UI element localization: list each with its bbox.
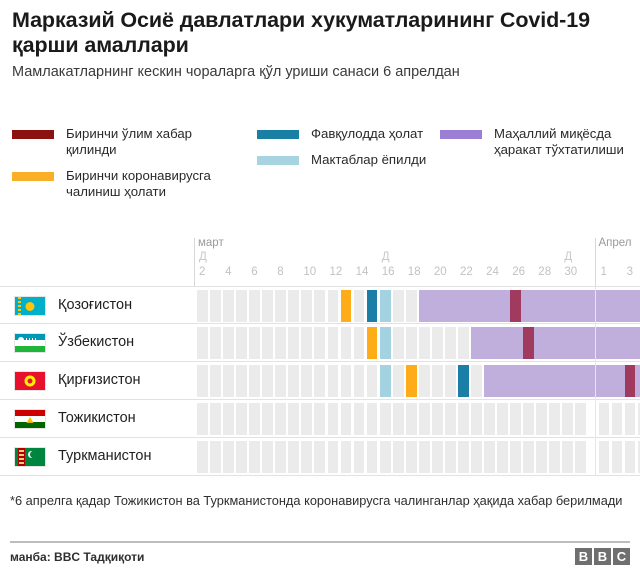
day-cell	[354, 290, 365, 322]
country-label-1: Қозоғистон	[58, 297, 132, 314]
day-cell	[301, 290, 312, 322]
legend-label-local-lockdown: Маҳаллий миқёсда ҳаракат тўхтатилиши	[494, 126, 640, 158]
event-bar-schools_closed	[380, 327, 391, 359]
day-cell	[288, 327, 299, 359]
day-cell	[599, 441, 610, 473]
day-cell	[275, 441, 286, 473]
infographic-page: Марказий Осиё давлатлари хукуматларининг…	[0, 0, 640, 571]
day-cell	[432, 327, 443, 359]
legend-column-2: Фавқулодда ҳолатМактаблар ёпилди	[257, 126, 437, 178]
day-cell	[301, 403, 312, 435]
bbc-letter-2: B	[594, 548, 611, 565]
day-cell	[249, 327, 260, 359]
day-cell	[380, 441, 391, 473]
day-cell	[354, 403, 365, 435]
row-month-divider	[595, 287, 596, 325]
day-cell	[612, 403, 623, 435]
page-subtitle: Мамлакатларнинг кескин чораларга қўл ури…	[12, 63, 628, 82]
day-cell	[341, 441, 352, 473]
day-cell	[236, 441, 247, 473]
day-tick-march-20: 20	[434, 267, 447, 279]
legend-item-local-lockdown[interactable]: Маҳаллий миқёсда ҳаракат тўхтатилиши	[440, 126, 640, 158]
day-tick-march-4: 4	[225, 267, 231, 279]
legend-swatch-emergency	[257, 130, 299, 139]
day-cell	[341, 365, 352, 397]
event-bar-schools_closed	[380, 290, 391, 322]
day-cell	[406, 403, 417, 435]
day-tick-march-2: 2	[199, 267, 205, 279]
day-cell	[236, 365, 247, 397]
day-cell	[328, 441, 339, 473]
day-tick-march-12: 12	[330, 267, 343, 279]
kazakhstan-flag	[14, 296, 46, 316]
day-cell	[549, 403, 560, 435]
day-tick-april-3: 3	[627, 267, 633, 279]
day-cell	[419, 441, 430, 473]
kyrgyzstan-flag	[14, 371, 46, 391]
day-cell	[510, 403, 521, 435]
day-cell	[393, 441, 404, 473]
day-tick-march-22: 22	[460, 267, 473, 279]
header: Марказий Осиё давлатлари хукуматларининг…	[0, 0, 640, 81]
day-cell	[197, 403, 208, 435]
event-bar-first_case	[341, 290, 352, 322]
day-cell	[354, 365, 365, 397]
row-month-divider	[595, 400, 596, 438]
day-tick-march-28: 28	[538, 267, 551, 279]
day-cell	[458, 403, 469, 435]
legend-swatch-first-death	[12, 130, 54, 139]
table-row[interactable]: Тожикистон	[0, 400, 640, 438]
day-cell	[612, 441, 623, 473]
legend-item-first-death[interactable]: Биринчи ўлим хабар қилинди	[12, 126, 244, 158]
day-cell	[523, 441, 534, 473]
day-cell	[223, 327, 234, 359]
legend-item-emergency[interactable]: Фавқулодда ҳолат	[257, 126, 437, 142]
month-divider-march	[194, 238, 195, 286]
span-local_lockdown	[471, 327, 640, 359]
day-cell	[314, 365, 325, 397]
day-cell	[432, 365, 443, 397]
day-cell	[393, 327, 404, 359]
bbc-logo: BBC	[575, 548, 630, 565]
event-bar-first_case	[406, 365, 417, 397]
day-cell	[367, 441, 378, 473]
weekday-marker-30: Д	[564, 252, 572, 264]
day-cell	[575, 441, 586, 473]
day-cell	[262, 290, 273, 322]
day-cell	[314, 290, 325, 322]
uzbekistan-flag	[14, 333, 46, 353]
legend-column-1: Биринчи ўлим хабар қилиндиБиринчи корона…	[12, 126, 244, 210]
day-cell	[328, 290, 339, 322]
day-cell	[625, 403, 636, 435]
table-row[interactable]: Ўзбекистон	[0, 324, 640, 362]
day-cell	[301, 327, 312, 359]
day-tick-march-10: 10	[303, 267, 316, 279]
day-cell	[562, 441, 573, 473]
day-cell	[393, 365, 404, 397]
day-cell	[458, 327, 469, 359]
day-cell	[197, 327, 208, 359]
day-cell	[210, 403, 221, 435]
day-cell	[223, 365, 234, 397]
day-cell	[223, 403, 234, 435]
timeline-track-4	[197, 403, 640, 435]
event-bar-first_case	[367, 327, 378, 359]
chart-axis: мартАпрел24681012141618202224262830135ДД…	[0, 238, 640, 286]
day-cell	[380, 403, 391, 435]
day-cell	[328, 327, 339, 359]
country-label-2: Ўзбекистон	[58, 334, 134, 351]
day-cell	[445, 327, 456, 359]
day-tick-march-26: 26	[512, 267, 525, 279]
day-cell	[262, 327, 273, 359]
country-label-4: Тожикистон	[58, 410, 136, 427]
table-row[interactable]: Туркманистон	[0, 438, 640, 476]
day-cell	[301, 365, 312, 397]
span-local_lockdown	[419, 290, 640, 322]
day-cell	[354, 441, 365, 473]
event-bar-schools_closed	[380, 365, 391, 397]
span-local_lockdown	[484, 365, 640, 397]
legend-swatch-schools-closed	[257, 156, 299, 165]
day-cell	[471, 441, 482, 473]
country-label-3: Қирғизистон	[58, 372, 141, 389]
day-cell	[328, 403, 339, 435]
day-cell	[432, 403, 443, 435]
day-cell	[301, 441, 312, 473]
day-cell	[471, 365, 482, 397]
day-cell	[275, 290, 286, 322]
event-bar-first_death	[510, 290, 521, 322]
page-title: Марказий Осиё давлатлари хукуматларининг…	[12, 8, 628, 58]
day-tick-march-16: 16	[382, 267, 395, 279]
legend: Биринчи ўлим хабар қилиндиБиринчи корона…	[12, 126, 628, 222]
day-cell	[549, 441, 560, 473]
day-cell	[445, 441, 456, 473]
day-cell	[197, 441, 208, 473]
row-month-divider	[595, 324, 596, 362]
day-tick-march-6: 6	[251, 267, 257, 279]
row-month-divider	[595, 362, 596, 400]
day-cell	[314, 403, 325, 435]
day-cell	[236, 403, 247, 435]
day-tick-march-30: 30	[564, 267, 577, 279]
day-cell	[236, 290, 247, 322]
month-divider-april	[595, 238, 596, 286]
day-cell	[210, 327, 221, 359]
legend-label-first-case: Биринчи коронавирусга чалиниш ҳолати	[66, 168, 244, 200]
day-cell	[354, 327, 365, 359]
day-tick-march-14: 14	[356, 267, 369, 279]
day-cell	[432, 441, 443, 473]
day-tick-march-24: 24	[486, 267, 499, 279]
turkmenistan-flag	[14, 447, 46, 467]
event-bar-emergency	[367, 290, 378, 322]
legend-column-3: Маҳаллий миқёсда ҳаракат тўхтатилиши	[440, 126, 640, 168]
day-cell	[419, 327, 430, 359]
day-cell	[197, 365, 208, 397]
day-cell	[288, 403, 299, 435]
day-cell	[497, 403, 508, 435]
day-cell	[328, 365, 339, 397]
footnote: *6 апрелга қадар Тожикистон ва Туркманис…	[10, 492, 630, 510]
legend-label-first-death: Биринчи ўлим хабар қилинди	[66, 126, 244, 158]
event-bar-first_death	[625, 365, 636, 397]
day-cell	[497, 441, 508, 473]
row-month-divider	[595, 438, 596, 476]
legend-label-schools-closed: Мактаблар ёпилди	[311, 152, 437, 168]
source-label: манба: BBC Тадқиқоти	[10, 550, 144, 564]
month-label-march: март	[198, 238, 224, 250]
day-cell	[223, 441, 234, 473]
day-cell	[314, 441, 325, 473]
day-cell	[262, 403, 273, 435]
day-cell	[288, 290, 299, 322]
day-cell	[367, 365, 378, 397]
day-cell	[445, 365, 456, 397]
day-cell	[275, 327, 286, 359]
table-row[interactable]: Қозоғистон	[0, 286, 640, 324]
day-cell	[406, 327, 417, 359]
month-label-april: Апрел	[599, 238, 632, 250]
day-cell	[367, 403, 378, 435]
chart-rows: ҚозоғистонЎзбекистонҚирғизистонТожикисто…	[0, 286, 640, 476]
day-cell	[393, 403, 404, 435]
bbc-letter-1: B	[575, 548, 592, 565]
day-cell	[599, 403, 610, 435]
day-cell	[536, 403, 547, 435]
timeline-chart: мартАпрел24681012141618202224262830135ДД…	[0, 238, 640, 482]
day-cell	[419, 403, 430, 435]
day-cell	[458, 441, 469, 473]
day-cell	[523, 403, 534, 435]
day-cell	[536, 441, 547, 473]
day-cell	[341, 403, 352, 435]
timeline-track-5	[197, 441, 640, 473]
day-cell	[210, 290, 221, 322]
day-cell	[625, 441, 636, 473]
day-cell	[510, 441, 521, 473]
day-cell	[471, 403, 482, 435]
day-cell	[210, 365, 221, 397]
legend-label-emergency: Фавқулодда ҳолат	[311, 126, 437, 142]
day-cell	[341, 327, 352, 359]
day-cell	[249, 403, 260, 435]
country-label-5: Туркманистон	[58, 448, 151, 465]
day-cell	[262, 365, 273, 397]
timeline-track-2	[197, 327, 640, 359]
day-cell	[484, 441, 495, 473]
day-cell	[575, 403, 586, 435]
timeline-track-3	[197, 365, 640, 397]
day-cell	[236, 327, 247, 359]
timeline-track-1	[197, 290, 640, 322]
day-cell	[223, 290, 234, 322]
day-cell	[406, 441, 417, 473]
day-cell	[262, 441, 273, 473]
day-tick-april-1: 1	[601, 267, 607, 279]
day-cell	[249, 365, 260, 397]
event-bar-first_death	[523, 327, 534, 359]
day-cell	[210, 441, 221, 473]
day-cell	[314, 327, 325, 359]
day-tick-march-18: 18	[408, 267, 421, 279]
day-cell	[562, 403, 573, 435]
day-cell	[406, 290, 417, 322]
legend-item-first-case[interactable]: Биринчи коронавирусга чалиниш ҳолати	[12, 168, 244, 200]
legend-swatch-first-case	[12, 172, 54, 181]
day-cell	[197, 290, 208, 322]
day-cell	[275, 365, 286, 397]
weekday-marker-16: Д	[382, 252, 390, 264]
day-tick-march-8: 8	[277, 267, 283, 279]
day-cell	[393, 290, 404, 322]
day-cell	[249, 441, 260, 473]
day-cell	[288, 441, 299, 473]
weekday-marker-2: Д	[199, 252, 207, 264]
table-row[interactable]: Қирғизистон	[0, 362, 640, 400]
event-bar-emergency	[458, 365, 469, 397]
day-cell	[275, 403, 286, 435]
legend-item-schools-closed[interactable]: Мактаблар ёпилди	[257, 152, 437, 168]
day-cell	[419, 365, 430, 397]
day-cell	[484, 403, 495, 435]
footer-divider	[10, 541, 630, 543]
day-cell	[249, 290, 260, 322]
bbc-letter-3: C	[613, 548, 630, 565]
tajikistan-flag	[14, 409, 46, 429]
day-cell	[288, 365, 299, 397]
legend-swatch-local-lockdown	[440, 130, 482, 139]
day-cell	[445, 403, 456, 435]
